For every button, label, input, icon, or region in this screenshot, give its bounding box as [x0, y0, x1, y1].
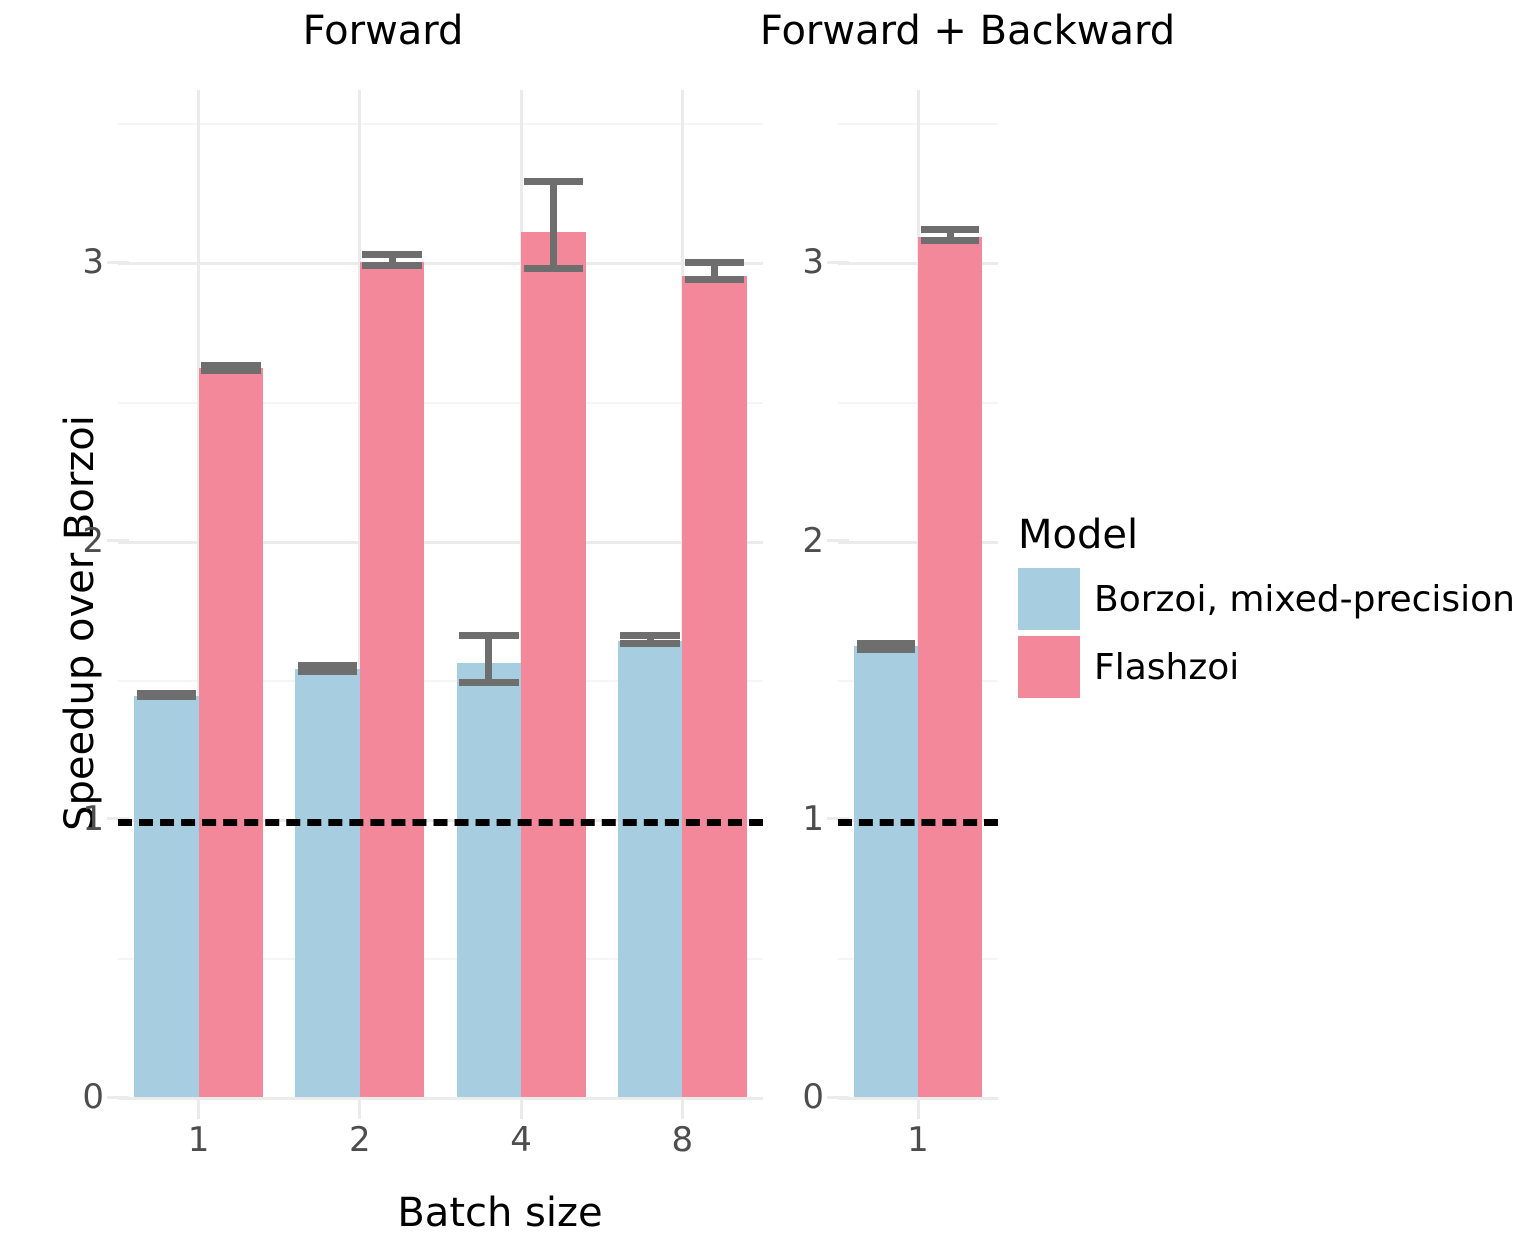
legend-key-borzoi-mixed-precision: [1018, 568, 1080, 630]
x-axis-line: [118, 1097, 763, 1100]
bar-borzoi-mixed-precision-batch-1: [854, 646, 918, 1097]
legend-label-borzoi-mixed-precision: Borzoi, mixed-precision: [1094, 579, 1515, 620]
error-bar-cap-lower: [137, 693, 196, 700]
x-tick-label-1: 1: [188, 1120, 210, 1160]
error-bar-stem: [647, 635, 654, 643]
error-bar-stem: [711, 262, 718, 279]
gridline-minor-y-3.5: [118, 123, 763, 125]
reference-line-speedup-1: [838, 819, 998, 826]
y-tick-label-3: 3: [780, 242, 824, 282]
x-tick-label-8: 8: [672, 1120, 694, 1160]
x-tick-mark-4: [520, 1097, 523, 1119]
error-bar-cap-lower: [201, 367, 260, 374]
legend: Model Borzoi, mixed-precision Flashzoi: [1018, 512, 1515, 704]
x-tick-label-4: 4: [510, 1120, 532, 1160]
bar-flashzoi-batch-8: [682, 276, 747, 1097]
reference-line-speedup-1: [118, 819, 763, 826]
panel-title-forward-backward: Forward + Backward: [700, 8, 1235, 54]
error-bar-stem: [947, 229, 954, 240]
bar-flashzoi-batch-1: [199, 368, 264, 1097]
legend-title: Model: [1018, 512, 1515, 558]
bar-flashzoi-batch-2: [360, 262, 425, 1097]
x-tick-label-2: 2: [349, 1120, 371, 1160]
y-tick-label-2: 2: [780, 521, 824, 561]
bar-flashzoi-batch-1: [918, 237, 982, 1097]
panel-title-forward: Forward: [118, 8, 648, 54]
bar-borzoi-mixed-precision-batch-4: [457, 663, 522, 1097]
bar-borzoi-mixed-precision-batch-2: [295, 669, 360, 1097]
y-tick-label-2: 2: [60, 521, 104, 561]
plot-panel-forward-backward: [838, 90, 998, 1097]
legend-key-flashzoi: [1018, 636, 1080, 698]
error-bar-stem: [389, 254, 396, 265]
error-bar-cap-lower: [857, 646, 916, 653]
error-bar-stem: [550, 182, 557, 268]
y-tick-label-1: 1: [780, 799, 824, 839]
x-tick-mark-8: [681, 1097, 684, 1119]
y-tick-label-0: 0: [780, 1077, 824, 1117]
x-tick-label-1: 1: [907, 1120, 929, 1160]
gridline-major-y-3: [118, 262, 763, 265]
y-tick-label-1: 1: [60, 799, 104, 839]
x-tick-mark-1: [197, 1097, 200, 1119]
error-bar-stem: [485, 635, 492, 682]
plot-panel-forward: [118, 90, 763, 1097]
legend-label-flashzoi: Flashzoi: [1094, 647, 1239, 688]
legend-item-borzoi-mixed-precision[interactable]: Borzoi, mixed-precision: [1018, 568, 1515, 630]
x-tick-mark-2: [358, 1097, 361, 1119]
y-tick-label-0: 0: [60, 1077, 104, 1117]
chart-root: Forward Forward + Backward Speedup over …: [0, 0, 1520, 1254]
bar-flashzoi-batch-4: [521, 232, 586, 1097]
y-tick-label-3: 3: [60, 242, 104, 282]
y-axis-title: Speedup over Borzoi: [57, 263, 103, 983]
x-axis-title: Batch size: [0, 1190, 1000, 1236]
bar-borzoi-mixed-precision-batch-8: [618, 641, 683, 1097]
x-tick-mark-1: [917, 1097, 920, 1119]
error-bar-cap-lower: [298, 668, 357, 675]
legend-item-flashzoi[interactable]: Flashzoi: [1018, 636, 1515, 698]
bar-borzoi-mixed-precision-batch-1: [134, 696, 199, 1097]
